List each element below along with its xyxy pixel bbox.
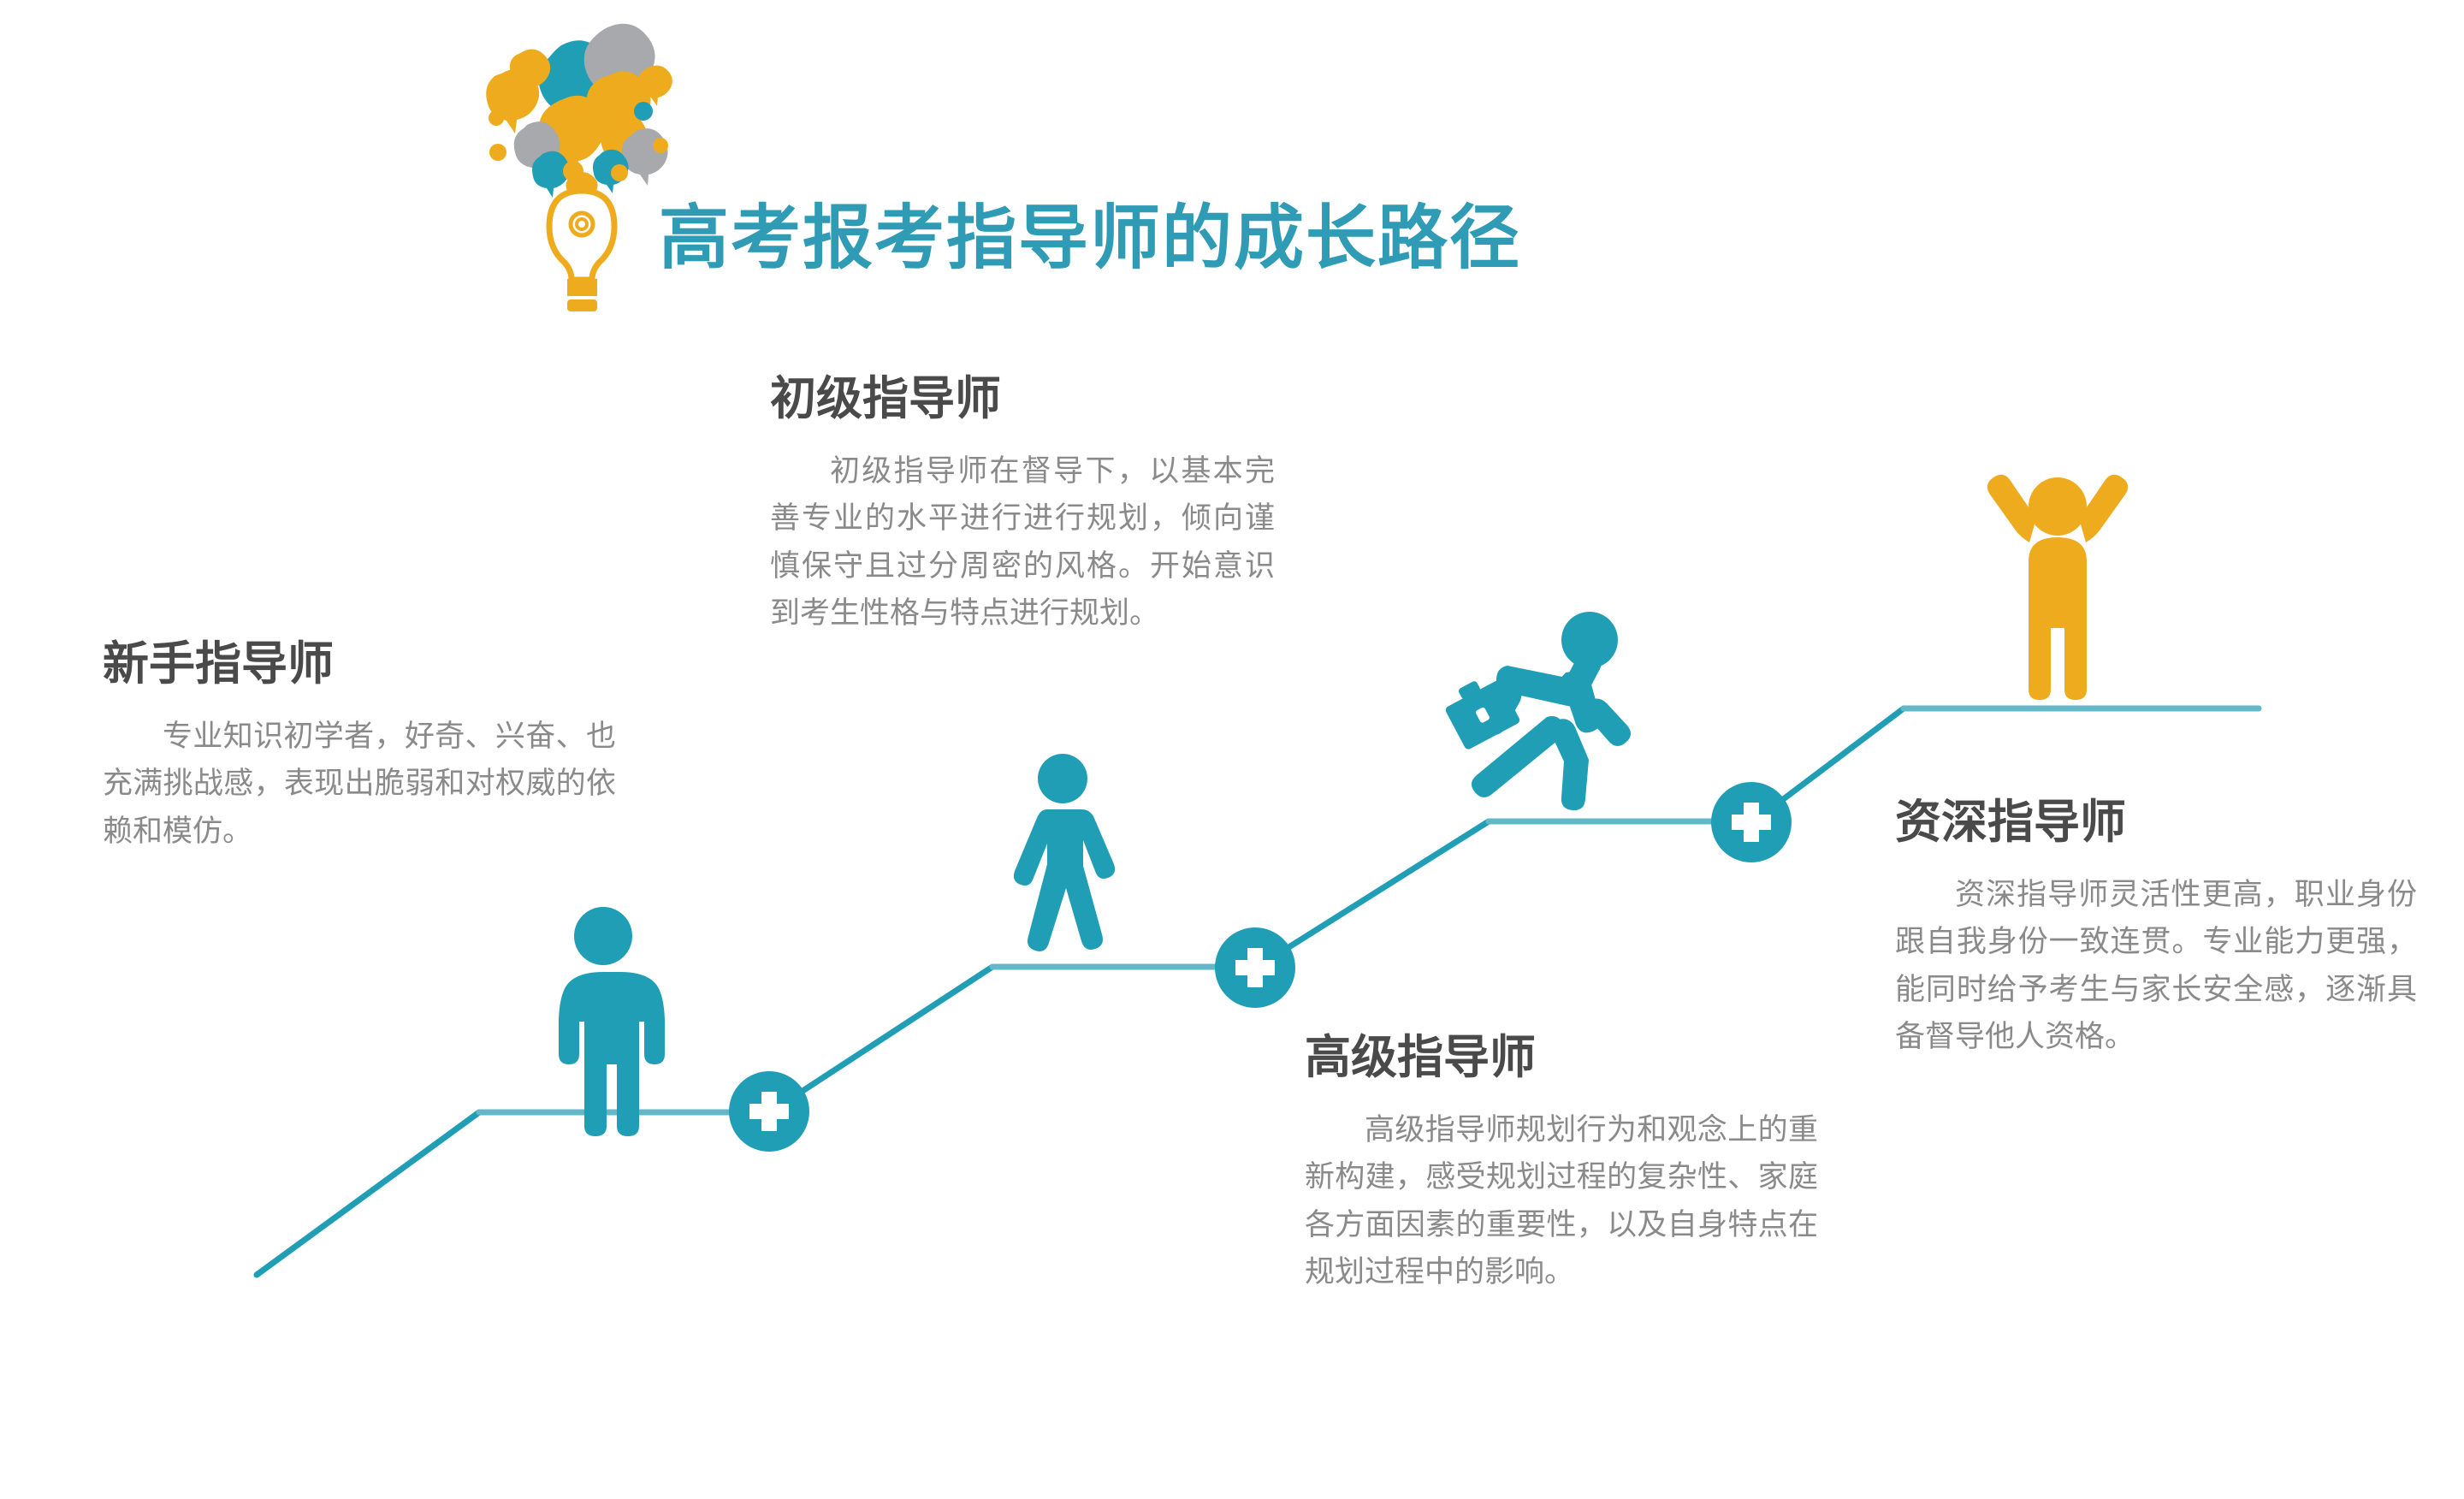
plus-circle-icon-3[interactable]	[1709, 780, 1793, 864]
stage-expert: 资深指导师 资深指导师灵活性更高，职业身份跟自我身份一致连贯。专业能力更强，能同…	[1895, 796, 2443, 1060]
celebrating-person-icon	[1976, 469, 2139, 700]
stage-body-senior: 高级指导师规划行为和观念上的重新构建，感受规划过程的复杂性、家庭各方面因素的重要…	[1305, 1106, 1818, 1295]
standing-person-icon	[539, 905, 667, 1136]
lightbulb-idea-icon	[479, 17, 719, 325]
stage-body-expert: 资深指导师灵活性更高，职业身份跟自我身份一致连贯。专业能力更强，能同时给予考生与…	[1895, 871, 2417, 1060]
page-title: 高考报考指导师的成长路径	[659, 204, 1521, 274]
plus-circle-icon-1[interactable]	[727, 1069, 811, 1153]
stage-novice: 新手指导师 专业知识初学者，好奇、兴奋、也充满挑战感，表现出脆弱和对权威的依赖和…	[103, 637, 642, 855]
stage-heading-senior: 高级指导师	[1305, 1031, 1835, 1084]
header: 高考报考指导师的成长路径	[479, 17, 1848, 325]
plus-circle-icon-2[interactable]	[1213, 926, 1297, 1010]
stage-body-junior: 初级指导师在督导下，以基本完善专业的水平进行进行规划，倾向谨慎保守且过分周密的风…	[770, 447, 1275, 637]
stage-heading-junior: 初级指导师	[770, 372, 1300, 425]
stage-heading-novice: 新手指导师	[103, 637, 642, 690]
infographic-canvas: 高考报考指导师的成长路径	[0, 0, 2464, 1499]
stage-junior: 初级指导师 初级指导师在督导下，以基本完善专业的水平进行进行规划，倾向谨慎保守且…	[770, 372, 1300, 637]
running-person-with-briefcase-icon	[1446, 609, 1643, 857]
stage-body-novice: 专业知识初学者，好奇、兴奋、也充满挑战感，表现出脆弱和对权威的依赖和模仿。	[103, 713, 616, 855]
stage-senior: 高级指导师 高级指导师规划行为和观念上的重新构建，感受规划过程的复杂性、家庭各方…	[1305, 1031, 1835, 1295]
stage-heading-expert: 资深指导师	[1895, 796, 2443, 849]
walking-person-icon	[1010, 753, 1121, 967]
